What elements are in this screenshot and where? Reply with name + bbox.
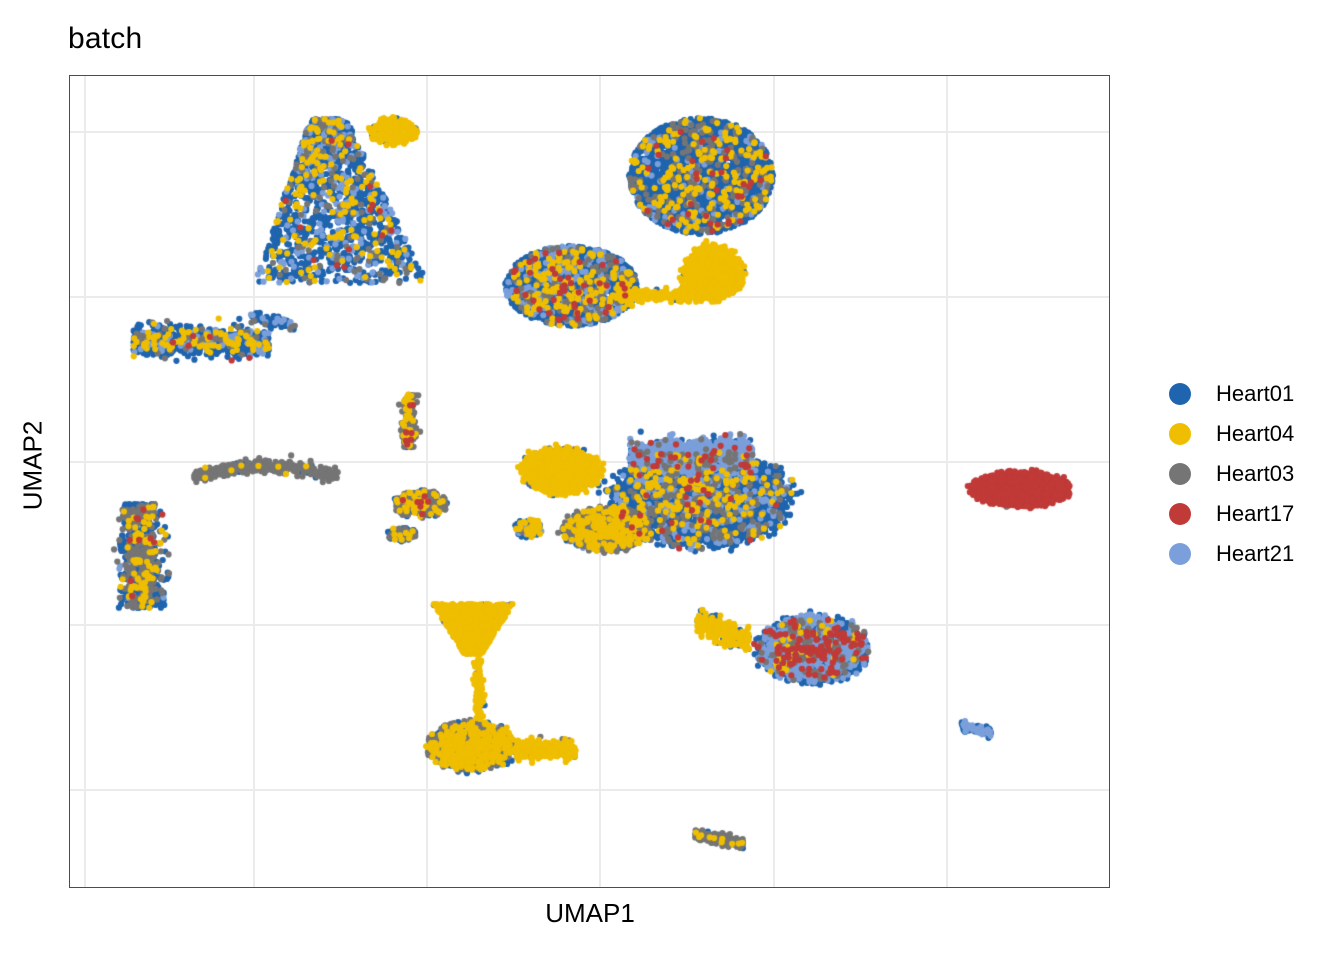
legend-key-dot-icon (1160, 374, 1200, 414)
legend-key-dot-icon (1160, 534, 1200, 574)
umap-scatter-plot: batch UMAP1 UMAP2 Heart01Heart04Heart03H… (0, 0, 1344, 960)
legend-item-heart21[interactable]: Heart21 (1160, 534, 1340, 574)
legend-key-dot-icon (1160, 414, 1200, 454)
x-axis-label: UMAP1 (0, 898, 1180, 929)
scatter-points-layer (70, 76, 1110, 888)
legend-item-heart04[interactable]: Heart04 (1160, 414, 1340, 454)
legend-item-heart17[interactable]: Heart17 (1160, 494, 1340, 534)
legend-item-heart01[interactable]: Heart01 (1160, 374, 1340, 414)
legend-item-label: Heart04 (1216, 421, 1294, 447)
legend: Heart01Heart04Heart03Heart17Heart21 (1160, 374, 1340, 574)
legend-item-label: Heart03 (1216, 461, 1294, 487)
legend-item-heart03[interactable]: Heart03 (1160, 454, 1340, 494)
legend-item-label: Heart17 (1216, 501, 1294, 527)
legend-key-dot-icon (1160, 494, 1200, 534)
y-axis-label: UMAP2 (18, 376, 49, 556)
legend-key-dot-icon (1160, 454, 1200, 494)
page-title: batch (68, 20, 142, 58)
legend-item-label: Heart01 (1216, 381, 1294, 407)
plot-panel (69, 75, 1110, 888)
legend-item-label: Heart21 (1216, 541, 1294, 567)
